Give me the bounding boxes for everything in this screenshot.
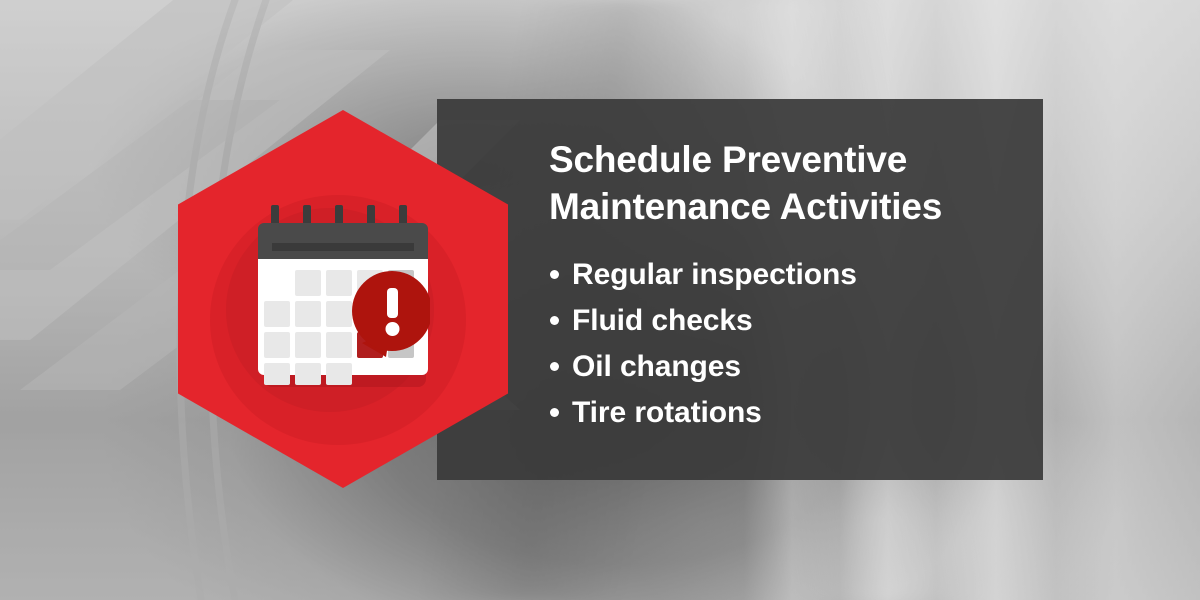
text-block: Schedule Preventive Maintenance Activiti…	[549, 136, 1019, 436]
benefits-list: Regular inspections Fluid checks Oil cha…	[549, 252, 1019, 436]
list-item: Fluid checks	[549, 298, 1019, 344]
exclamation-dot	[386, 322, 400, 336]
bullet-dot-icon	[550, 408, 559, 417]
bullet-dot-icon	[550, 316, 559, 325]
headline: Schedule Preventive Maintenance Activiti…	[549, 136, 1019, 230]
bullet-dot-icon	[550, 362, 559, 371]
list-item-label: Tire rotations	[572, 396, 762, 429]
calendar-header-bar	[272, 243, 414, 251]
list-item-label: Oil changes	[572, 350, 741, 383]
bullet-dot-icon	[550, 270, 559, 279]
list-item-label: Fluid checks	[572, 304, 753, 337]
calendar-alert-icon	[258, 205, 430, 387]
list-item-label: Regular inspections	[572, 258, 857, 291]
list-item: Regular inspections	[549, 252, 1019, 298]
exclamation-bar	[387, 288, 398, 318]
banner-graphic: Schedule Preventive Maintenance Activiti…	[0, 0, 1200, 600]
list-item: Tire rotations	[549, 390, 1019, 436]
list-item: Oil changes	[549, 344, 1019, 390]
calendar-header	[258, 223, 428, 259]
